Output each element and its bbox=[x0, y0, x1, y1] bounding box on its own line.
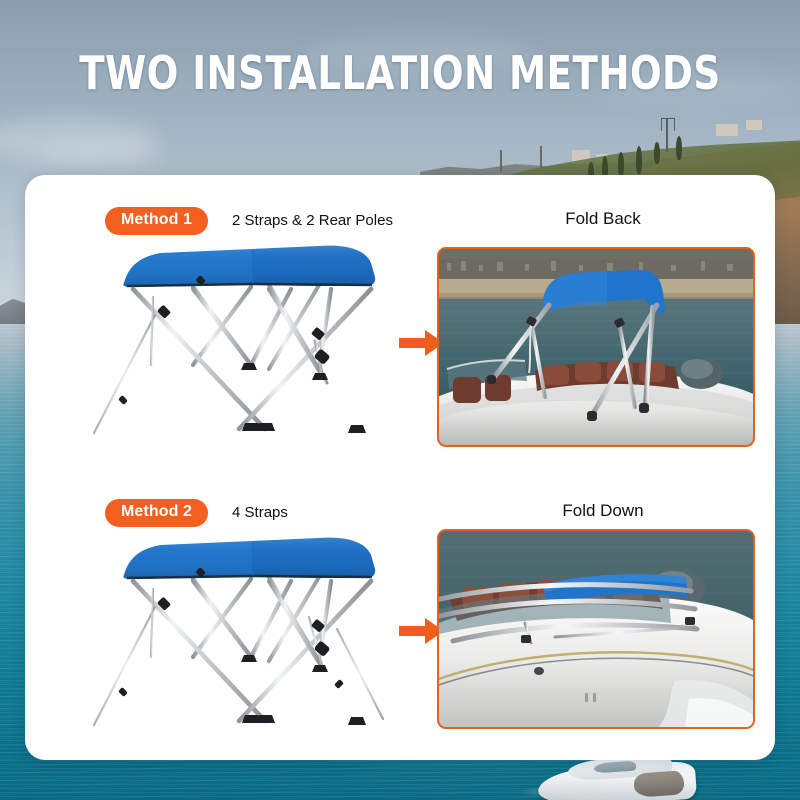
page-title: TWO INSTALLATION METHODS bbox=[40, 46, 760, 100]
boat-stern bbox=[633, 770, 685, 797]
deck-mount bbox=[256, 715, 275, 723]
bimini-top-frame-4-straps-diagram bbox=[87, 529, 417, 749]
hilltop-building bbox=[716, 124, 738, 136]
content-card: Method 1 2 Straps & 2 Rear Poles Fold Ba… bbox=[25, 175, 775, 760]
hilltop-building bbox=[746, 120, 762, 130]
fold-back-photo-svg bbox=[439, 249, 753, 445]
method-2-photo-caption: Fold Down bbox=[523, 501, 683, 521]
method-2-badge: Method 2 bbox=[105, 499, 208, 527]
deck-mount bbox=[241, 655, 257, 662]
strap bbox=[94, 607, 155, 725]
cloud bbox=[40, 140, 160, 166]
transmission-pylon bbox=[666, 118, 668, 152]
cypress-tree bbox=[654, 142, 660, 164]
boat-bimini-folded-back-photo bbox=[437, 247, 755, 447]
deck-mount bbox=[241, 363, 257, 370]
cypress-tree bbox=[676, 136, 682, 160]
deck-mount bbox=[312, 665, 328, 672]
method-1-description: 2 Straps & 2 Rear Poles bbox=[232, 212, 393, 229]
method-1-badge: Method 1 bbox=[105, 207, 208, 235]
bimini-diagram-svg bbox=[87, 529, 417, 749]
bimini-top-frame-2-straps-diagram bbox=[87, 237, 417, 457]
cypress-tree bbox=[618, 152, 624, 176]
deck-mount bbox=[348, 717, 366, 725]
deck-mount bbox=[256, 423, 275, 431]
deck-mount bbox=[348, 425, 366, 433]
method-2-description: 4 Straps bbox=[232, 504, 288, 521]
strap bbox=[337, 629, 383, 719]
method-1-header: Method 1 2 Straps & 2 Rear Poles bbox=[105, 207, 393, 235]
bimini-diagram-svg bbox=[87, 237, 417, 457]
fold-down-photo-svg bbox=[439, 531, 753, 727]
deck-mount bbox=[312, 373, 328, 380]
method-2-header: Method 2 4 Straps bbox=[105, 499, 288, 527]
cypress-tree bbox=[636, 146, 642, 174]
method-block-1: Method 1 2 Straps & 2 Rear Poles Fold Ba… bbox=[25, 175, 775, 467]
boat-bimini-folded-down-photo bbox=[437, 529, 755, 729]
method-1-photo-caption: Fold Back bbox=[523, 209, 683, 229]
method-block-2: Method 2 4 Straps Fold Down bbox=[25, 467, 775, 760]
strap bbox=[94, 315, 155, 433]
